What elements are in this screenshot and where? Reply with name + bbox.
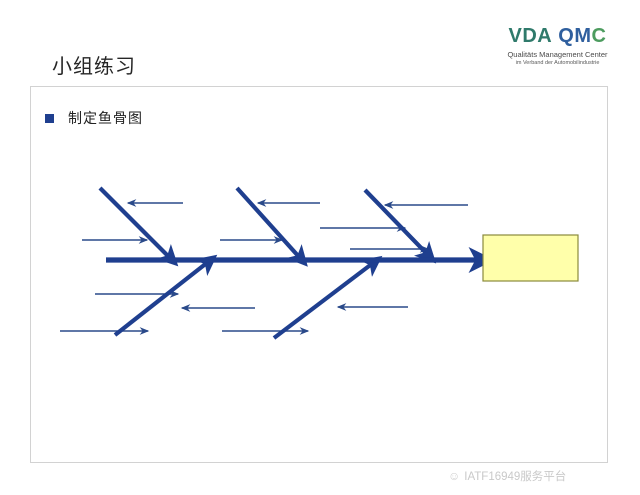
vda-qmc-logo: VDA QMC Qualitäts Management Center im V… — [495, 26, 620, 66]
upper-bone-3 — [365, 190, 428, 255]
logo-subtitle-line2: im Verband der Automobilindustrie — [495, 61, 620, 67]
cause-bones — [100, 188, 428, 338]
effect-box-group — [483, 235, 578, 281]
upper-bone-1 — [100, 188, 170, 258]
logo-vda-text: VDA — [509, 25, 553, 47]
logo-subtitle-line1: Qualitäts Management Center — [495, 51, 620, 59]
effect-box — [483, 235, 578, 281]
wechat-icon: ☺ — [448, 470, 460, 482]
upper-bone-2 — [237, 188, 300, 258]
logo-m-text: M — [574, 25, 591, 47]
page-title: 小组练习 — [52, 50, 136, 79]
logo-q-text: Q — [558, 25, 574, 47]
fishbone-diagram — [30, 86, 608, 463]
sub-cause-arrows — [60, 203, 468, 331]
slide-canvas: VDA QMC Qualitäts Management Center im V… — [0, 0, 640, 495]
logo-wordmark: VDA QMC — [495, 26, 620, 46]
watermark-label: IATF16949服务平台 — [464, 468, 566, 484]
logo-c-text: C — [592, 25, 607, 47]
lower-bone-2 — [274, 263, 373, 338]
lower-bone-1 — [115, 262, 208, 335]
watermark: ☺ IATF16949服务平台 — [448, 468, 566, 484]
